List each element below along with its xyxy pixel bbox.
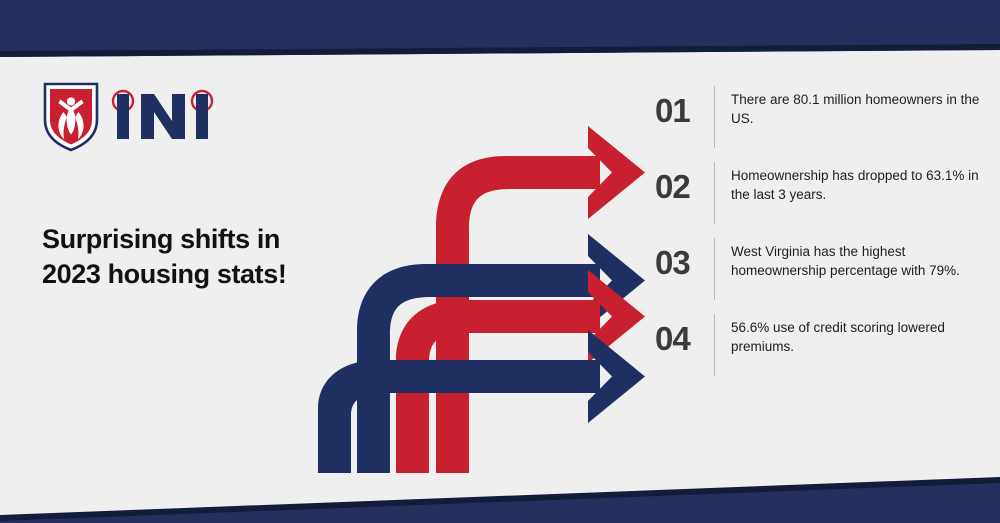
- headline-line-1: Surprising shifts in: [42, 222, 372, 257]
- bottom-navy-band: [0, 463, 1000, 523]
- figure-head: [67, 97, 75, 105]
- page-title: Surprising shifts in 2023 housing stats!: [42, 222, 372, 292]
- shield-figure-logo: [42, 80, 100, 152]
- brand-logo[interactable]: [42, 80, 215, 152]
- bottom-band-fill: [0, 483, 1000, 523]
- stat-text: Homeownership has dropped to 63.1% in th…: [731, 162, 985, 204]
- list-item: 02 Homeownership has dropped to 63.1% in…: [655, 162, 985, 224]
- stat-number: 03: [655, 238, 711, 279]
- headline-line-2: 2023 housing stats!: [42, 257, 372, 292]
- top-navy-band: [0, 0, 1000, 60]
- stat-text: West Virginia has the highest homeowners…: [731, 238, 985, 280]
- stat-number: 01: [655, 86, 711, 127]
- infographic-canvas: Surprising shifts in 2023 housing stats!…: [0, 0, 1000, 523]
- logo-letter-i-right: [196, 94, 208, 139]
- stat-number: 04: [655, 314, 711, 355]
- list-item: 04 56.6% use of credit scoring lowered p…: [655, 314, 985, 376]
- stat-text: There are 80.1 million homeowners in the…: [731, 86, 985, 128]
- stat-number: 02: [655, 162, 711, 203]
- logo-wordmark: [110, 85, 215, 147]
- stat-divider: [714, 162, 715, 224]
- list-item: 03 West Virginia has the highest homeown…: [655, 238, 985, 300]
- stat-divider: [714, 238, 715, 300]
- stat-divider: [714, 314, 715, 376]
- stats-list: 01 There are 80.1 million homeowners in …: [655, 86, 985, 390]
- stat-text: 56.6% use of credit scoring lowered prem…: [731, 314, 985, 356]
- stat-divider: [714, 86, 715, 148]
- logo-letter-n: [141, 94, 185, 139]
- logo-letter-i-left: [117, 94, 129, 139]
- list-item: 01 There are 80.1 million homeowners in …: [655, 86, 985, 148]
